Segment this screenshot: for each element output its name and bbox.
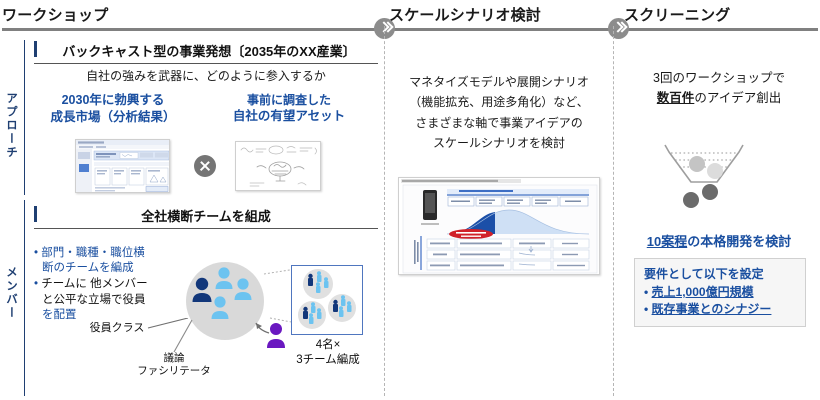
team-caption-line1: 4名×: [288, 338, 368, 353]
leader-line-executive: [148, 318, 188, 328]
screening-mid-text: 10案程の本格開発を検討: [620, 231, 818, 251]
funnel-sieve-icon: [655, 140, 765, 210]
screening-top-text: 3回のワークショップで 数百件のアイデア創出: [620, 68, 818, 108]
heading-accent-bar: [34, 206, 37, 222]
list-item: 売上1,000億円規模: [644, 284, 797, 301]
column-header-screening: スクリーニング: [624, 4, 818, 31]
bullet-line-4b: を配置: [42, 309, 77, 321]
approach-heading: バックキャスト型の事業発想〔2035年のXX産業〕: [34, 41, 378, 60]
screening-mid-strong: 10案程: [647, 234, 687, 249]
team-caption-line2: 3チーム編成: [288, 353, 368, 368]
list-item: チームに 他メンバーと公平な立場で役員を配置: [34, 277, 154, 323]
heading-rule: [34, 63, 378, 64]
column-title-scale: スケールシナリオ検討: [389, 4, 611, 25]
team-cluster: [328, 294, 356, 322]
market-analysis-thumbnail: [75, 139, 170, 193]
screening-top-strong: 数百件: [657, 91, 695, 105]
rail-divider: [24, 40, 25, 195]
requirement-1: 売上1,000億円規模: [652, 285, 754, 299]
passed-particle: [683, 192, 699, 208]
requirements-title: 要件として以下を設定: [644, 265, 797, 282]
sieve-particle: [689, 156, 705, 172]
label-facilitator: 議論 ファシリテータ: [128, 352, 220, 378]
screening-top-line1: 3回のワークショップで: [620, 68, 818, 88]
requirement-2: 既存事業とのシナジー: [652, 302, 772, 316]
sieve-particle: [707, 163, 723, 179]
leader-line-facilitator: [174, 320, 192, 352]
member-heading: 全社横断チームを組成: [34, 206, 378, 225]
scale-line-1: マネタイズモデルや展開シナリオ: [390, 72, 608, 92]
passed-particle: [702, 184, 718, 200]
approach-item-market-line1: 2030年に勃興する: [38, 92, 188, 109]
screening-top-line2: 数百件のアイデア創出: [620, 88, 818, 108]
chevron-right-icon: [608, 18, 629, 39]
header-rule: [2, 28, 380, 31]
scale-scenario-chart-thumbnail: [398, 177, 600, 275]
approach-item-asset-line2: 自社の有望アセット: [214, 108, 364, 125]
list-item: 部門・職種・職位横断のチームを編成: [34, 246, 154, 276]
team-cluster: [298, 301, 326, 329]
bullet-line-3: チームに 他メンバー: [41, 278, 147, 290]
heading-accent-bar: [34, 41, 37, 57]
member-bullet-list: 部門・職種・職位横断のチームを編成 チームに 他メンバーと公平な立場で役員を配置: [34, 246, 154, 324]
thumbnail-art: [399, 178, 600, 275]
column-divider: [613, 26, 614, 396]
header-rule: [624, 28, 818, 31]
slide-root: ワークショップ スケールシナリオ検討 スクリーニング アプローチ メンバー バッ…: [0, 0, 820, 400]
asset-sketch-thumbnail: [235, 141, 321, 191]
rail-divider: [24, 200, 25, 396]
bullet-line-2: 断のチームを編成: [42, 262, 134, 274]
rail-label-member: メンバー: [1, 238, 21, 348]
column-header-workshop: ワークショップ: [2, 4, 380, 31]
heading-rule: [34, 228, 378, 229]
column-title-workshop: ワークショップ: [2, 4, 380, 25]
team-cluster: [303, 269, 333, 299]
thumbnail-art: [76, 140, 170, 193]
person-icon-executive: [193, 278, 212, 302]
approach-item-market-line2: 成長市場（分析結果）: [38, 109, 188, 126]
bullet-line-1: 部門・職種・職位横: [41, 247, 145, 259]
member-heading-group: 全社横断チームを組成: [34, 206, 378, 229]
column-header-scale: スケールシナリオ検討: [389, 4, 611, 31]
thumbnail-art: [236, 142, 321, 191]
label-executive-class: 役員クラス: [86, 322, 148, 336]
team-composition-caption: 4名× 3チーム編成: [288, 338, 368, 368]
label-facilitator-line2: ファシリテータ: [128, 365, 220, 378]
approach-item-market: 2030年に勃興する 成長市場（分析結果）: [38, 92, 188, 126]
screening-top-rest: のアイデア創出: [694, 91, 781, 105]
column-divider: [384, 26, 385, 396]
person-icon-member: [212, 296, 229, 319]
approach-item-asset: 事前に調査した 自社の有望アセット: [214, 92, 364, 125]
header-rule: [389, 28, 611, 31]
team-composition-art: [292, 266, 362, 334]
scale-body-text: マネタイズモデルや展開シナリオ （機能拡充、用途多角化）など、 さまざまな軸で事…: [390, 72, 608, 154]
person-icon-member: [216, 267, 233, 289]
approach-lead-text: 自社の強みを武器に、どのように参入するか: [34, 67, 378, 84]
bullet-line-4a: と公平な立場で役員: [42, 294, 146, 306]
approach-item-asset-line1: 事前に調査した: [214, 92, 364, 108]
team-composition-box: [291, 265, 363, 335]
scale-line-2: （機能拡充、用途多角化）など、: [390, 92, 608, 112]
list-item: 既存事業とのシナジー: [644, 301, 797, 318]
label-facilitator-line1: 議論: [128, 352, 220, 365]
multiply-circle-icon: [194, 155, 216, 177]
approach-heading-group: バックキャスト型の事業発想〔2035年のXX産業〕: [34, 41, 378, 64]
scale-line-4: スケールシナリオを検討: [390, 133, 608, 153]
requirements-box: 要件として以下を設定 売上1,000億円規模 既存事業とのシナジー: [634, 258, 806, 327]
rail-label-approach: アプローチ: [1, 62, 21, 190]
scale-line-3: さまざまな軸で事業アイデアの: [390, 113, 608, 133]
screening-mid-rest: の本格開発を検討: [687, 234, 791, 249]
column-title-screening: スクリーニング: [624, 4, 818, 25]
person-icon-member: [235, 278, 252, 300]
requirements-list: 売上1,000億円規模 既存事業とのシナジー: [644, 284, 797, 319]
